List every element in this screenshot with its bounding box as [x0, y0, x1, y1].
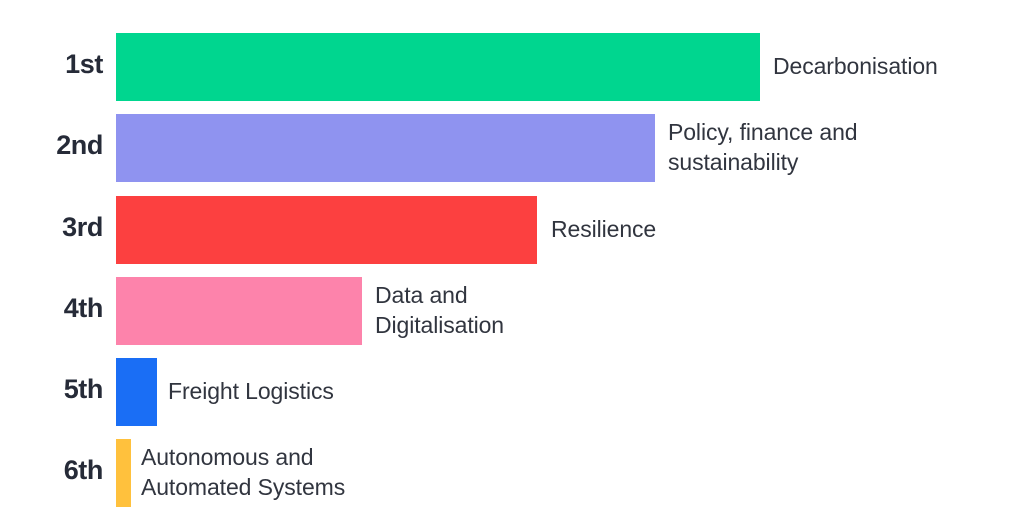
rank-label-1: 1st — [0, 49, 103, 80]
bar-label-2: Policy, finance and sustainability — [668, 117, 857, 177]
rank-label-4: 4th — [0, 293, 103, 324]
bar-4[interactable] — [116, 277, 362, 345]
bar-label-4: Data and Digitalisation — [375, 280, 504, 340]
bar-label-1: Decarbonisation — [773, 51, 938, 81]
rank-label-6: 6th — [0, 455, 103, 486]
bar-label-3: Resilience — [551, 214, 656, 244]
bar-6[interactable] — [116, 439, 131, 507]
bar-5[interactable] — [116, 358, 157, 426]
bar-label-5: Freight Logistics — [168, 376, 334, 406]
rank-label-5: 5th — [0, 374, 103, 405]
rank-label-2: 2nd — [0, 130, 103, 161]
bar-label-6: Autonomous and Automated Systems — [141, 442, 345, 502]
bar-3[interactable] — [116, 196, 537, 264]
rank-label-3: 3rd — [0, 212, 103, 243]
bar-1[interactable] — [116, 33, 760, 101]
bar-chart: 1st Decarbonisation 2nd Policy, finance … — [0, 0, 1010, 515]
bar-2[interactable] — [116, 114, 655, 182]
